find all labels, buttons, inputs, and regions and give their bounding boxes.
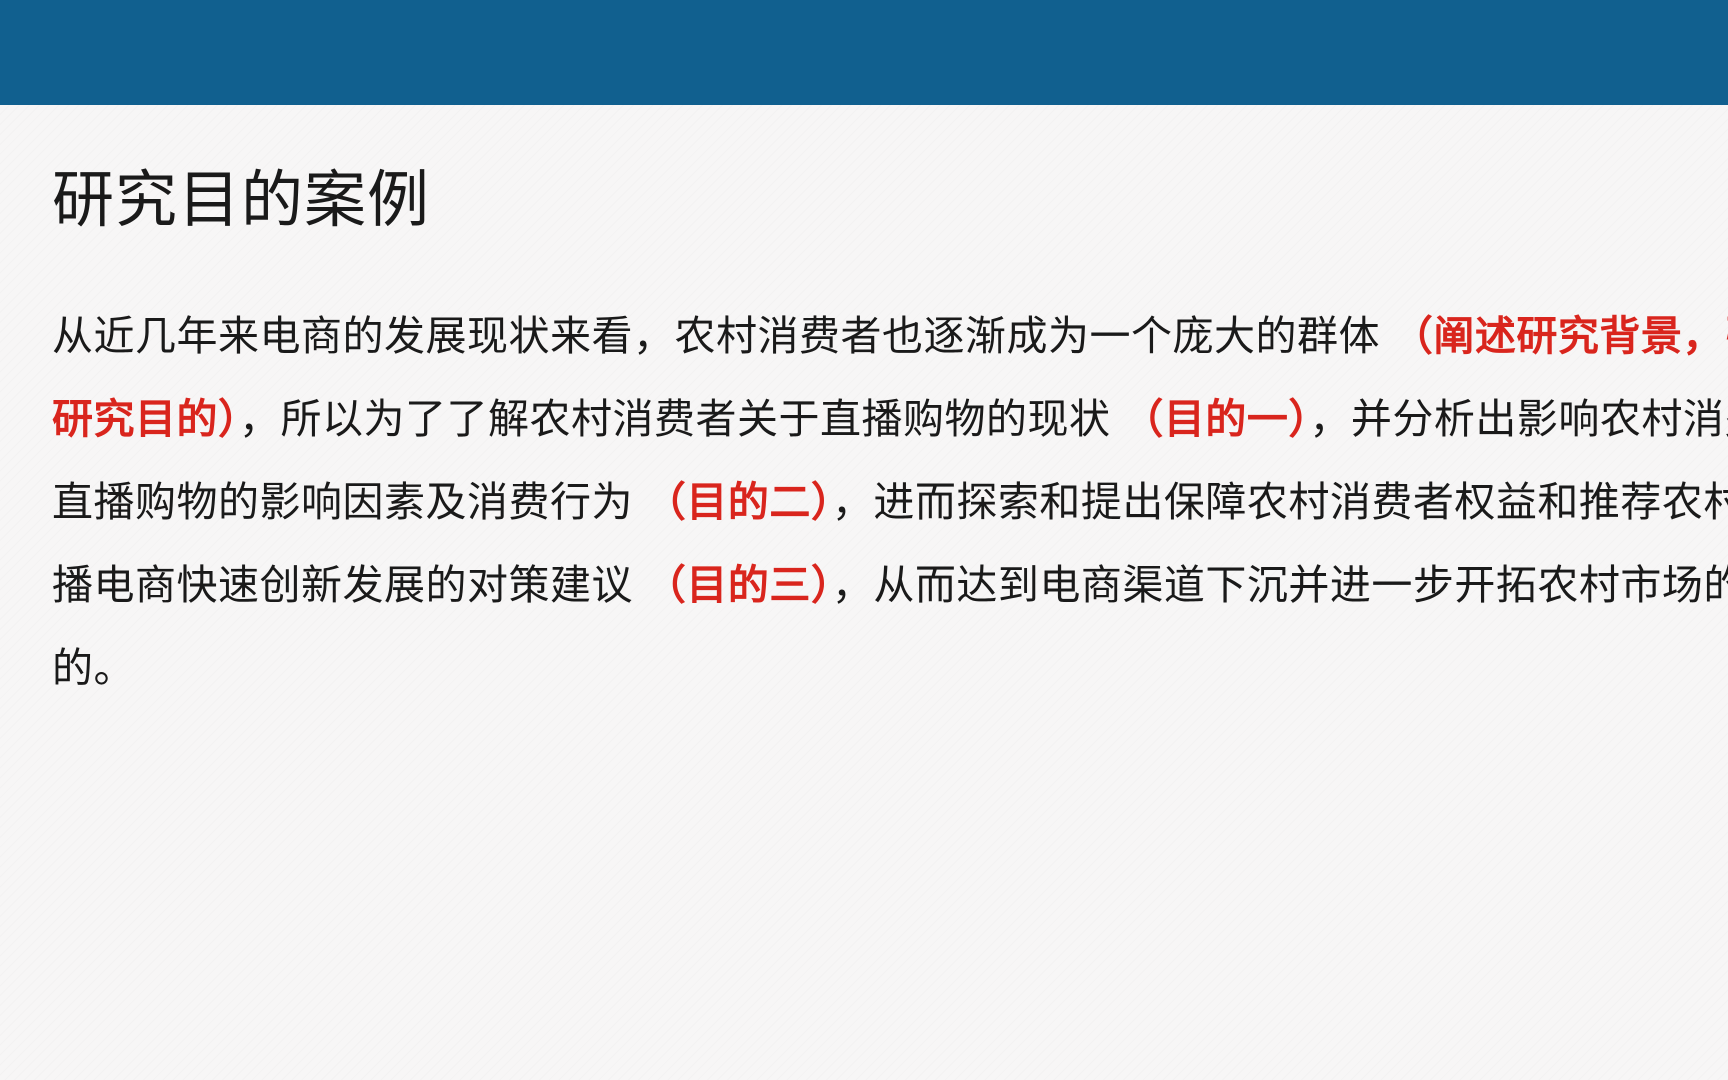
highlighted-text-segment: （目的一） bbox=[1122, 396, 1309, 442]
highlighted-text-segment: （目的三） bbox=[645, 562, 832, 608]
highlighted-text-segment: （目的二） bbox=[645, 479, 832, 525]
slide-body-paragraph: 从近几年来电商的发展现状来看，农村消费者也逐渐成为一个庞大的群体 （阐述研究背景… bbox=[52, 295, 1728, 710]
presentation-slide: 研究目的案例 从近几年来电商的发展现状来看，农村消费者也逐渐成为一个庞大的群体 … bbox=[0, 0, 1728, 1080]
page-title: 研究目的案例 bbox=[52, 168, 430, 233]
slide-header-bar bbox=[0, 0, 1728, 105]
body-text-segment: ，所以为了了解农村消费者关于直播购物的现状 bbox=[239, 396, 1122, 442]
body-text-segment: 从近几年来电商的发展现状来看，农村消费者也逐渐成为一个庞大的群体 bbox=[52, 313, 1392, 359]
